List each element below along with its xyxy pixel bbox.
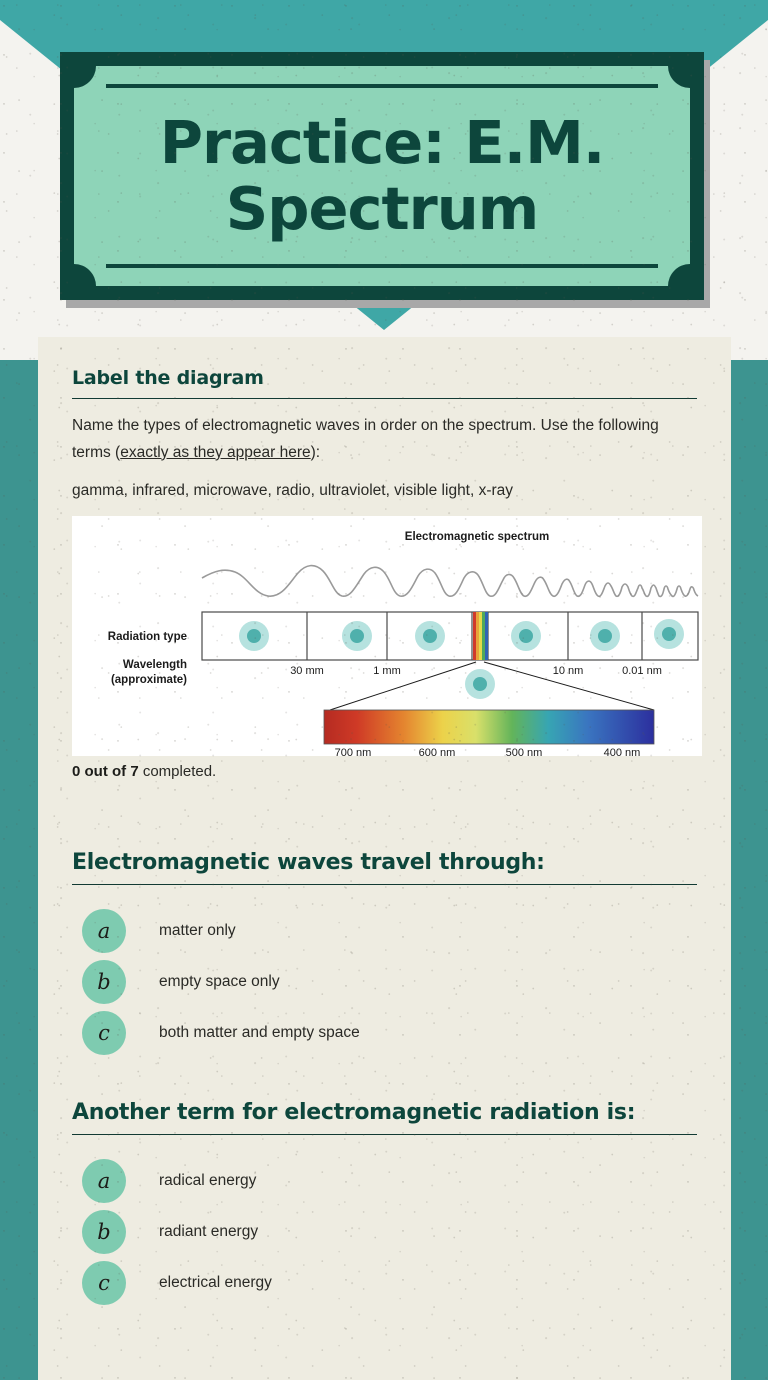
options-list: a radical energy b radiant energy c elec… xyxy=(72,1155,697,1308)
wavelength-tick: 30 mm xyxy=(290,665,324,677)
visible-tick: 400 nm xyxy=(604,747,641,756)
page-title: Practice: E.M. Spectrum xyxy=(100,102,664,250)
option-letter-b[interactable]: b xyxy=(82,1210,126,1254)
option-label[interactable]: empty space only xyxy=(159,973,280,991)
visible-light-sliver xyxy=(473,612,488,660)
visible-spectrum-bar xyxy=(324,710,654,744)
wavelength-label-line2: (approximate) xyxy=(111,674,187,686)
option-row[interactable]: a radical energy xyxy=(72,1155,697,1206)
option-row[interactable]: b empty space only xyxy=(72,956,697,1007)
visible-tick: 600 nm xyxy=(419,747,456,756)
option-label[interactable]: radical energy xyxy=(159,1172,256,1190)
option-label[interactable]: both matter and empty space xyxy=(159,1024,360,1042)
radiation-type-label: Radiation type xyxy=(108,631,187,643)
option-row[interactable]: c both matter and empty space xyxy=(72,1007,697,1058)
em-spectrum-diagram[interactable]: Electromagnetic spectrum xyxy=(72,516,702,756)
wavelength-tick: 0.01 nm xyxy=(622,665,662,677)
diagram-title: Electromagnetic spectrum xyxy=(405,531,549,543)
option-row[interactable]: c electrical energy xyxy=(72,1257,697,1308)
term-bank: gamma, infrared, microwave, radio, ultra… xyxy=(72,482,697,500)
option-label[interactable]: electrical energy xyxy=(159,1274,272,1292)
instructions-part2: ): xyxy=(311,444,320,461)
option-letter-c[interactable]: c xyxy=(82,1261,126,1305)
question-title: Another term for electromagnetic radiati… xyxy=(72,1100,697,1125)
drop-target[interactable] xyxy=(590,621,620,651)
visible-tick: 500 nm xyxy=(506,747,543,756)
drop-target[interactable] xyxy=(511,621,541,651)
option-label[interactable]: matter only xyxy=(159,922,236,940)
question-divider xyxy=(72,884,697,885)
option-label[interactable]: radiant energy xyxy=(159,1223,258,1241)
wave-graphic xyxy=(202,566,698,597)
banner-rule-bottom xyxy=(106,264,658,268)
wavelength-label-line1: Wavelength xyxy=(123,659,187,671)
label-diagram-section: Label the diagram Name the types of elec… xyxy=(72,367,697,780)
progress-status: 0 out of 7 completed. xyxy=(72,763,697,780)
option-letter-c[interactable]: c xyxy=(82,1011,126,1055)
drop-target[interactable] xyxy=(239,621,269,651)
wavelength-tick: 10 nm xyxy=(553,665,584,677)
visible-tick: 700 nm xyxy=(335,747,372,756)
question-block-1: Electromagnetic waves travel through: a … xyxy=(72,850,697,1058)
option-row[interactable]: b radiant energy xyxy=(72,1206,697,1257)
option-letter-a[interactable]: a xyxy=(82,1159,126,1203)
section-heading: Label the diagram xyxy=(72,367,697,389)
options-list: a matter only b empty space only c both … xyxy=(72,905,697,1058)
instructions-text: Name the types of electromagnetic waves … xyxy=(72,413,697,466)
instructions-emphasis: exactly as they appear here xyxy=(120,444,310,461)
wavelength-tick: 1 mm xyxy=(373,665,401,677)
drop-target[interactable] xyxy=(342,621,372,651)
content-card: Label the diagram Name the types of elec… xyxy=(38,337,731,1380)
section-divider xyxy=(72,398,697,399)
drop-target[interactable] xyxy=(654,619,684,649)
question-title: Electromagnetic waves travel through: xyxy=(72,850,697,875)
option-letter-b[interactable]: b xyxy=(82,960,126,1004)
question-block-2: Another term for electromagnetic radiati… xyxy=(72,1100,697,1308)
progress-suffix: completed. xyxy=(139,763,217,780)
option-letter-a[interactable]: a xyxy=(82,909,126,953)
drop-target[interactable] xyxy=(415,621,445,651)
progress-count: 0 out of 7 xyxy=(72,763,139,780)
option-row[interactable]: a matter only xyxy=(72,905,697,956)
banner-rule-top xyxy=(106,84,658,88)
question-divider xyxy=(72,1134,697,1135)
radiation-type-row xyxy=(202,612,698,660)
drop-target[interactable] xyxy=(465,669,495,699)
title-banner: Practice: E.M. Spectrum xyxy=(60,52,704,300)
